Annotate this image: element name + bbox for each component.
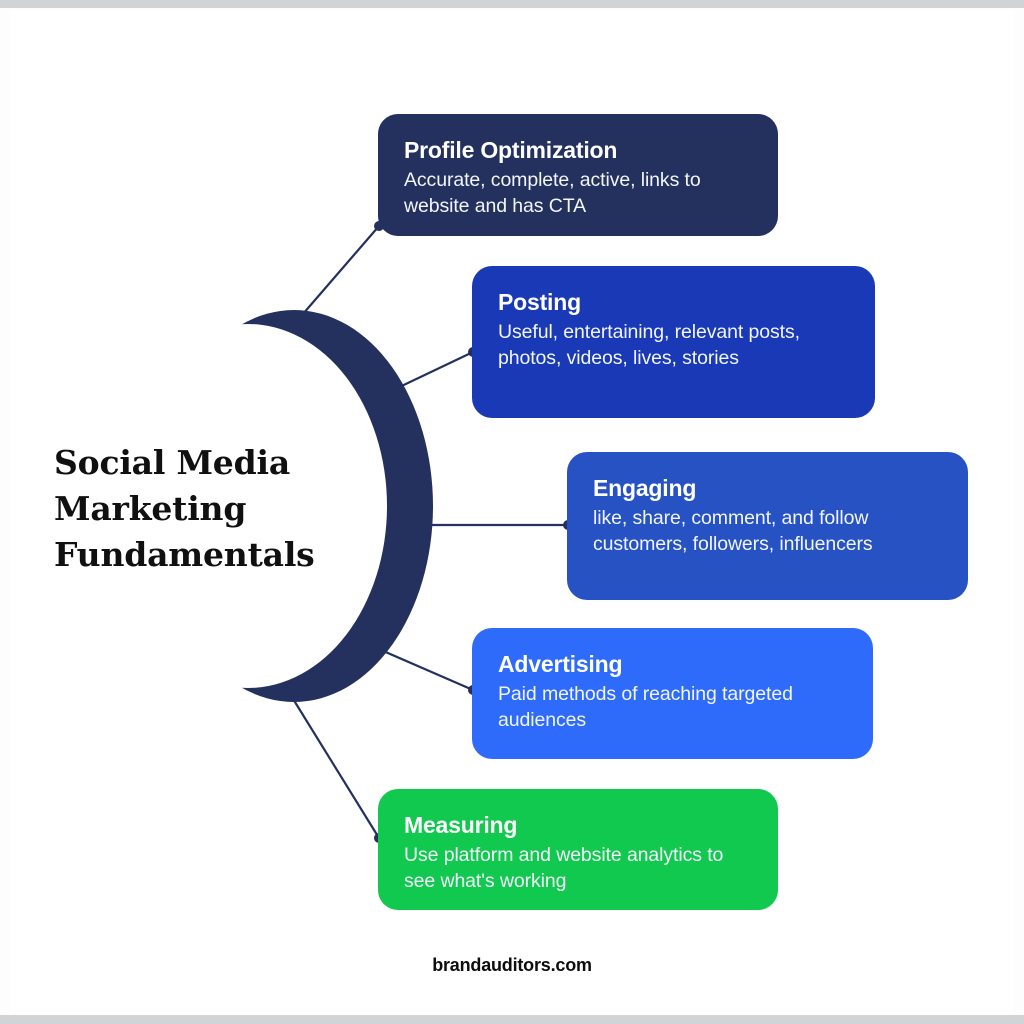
card-heading: Engaging [593,474,942,502]
card-body: Accurate, complete, active, links to web… [404,167,752,219]
title-line-1: Social Media [54,440,354,486]
card-profile-optimization[interactable]: Profile Optimization Accurate, complete,… [378,114,778,236]
card-body: Paid methods of reaching targeted audien… [498,681,847,733]
card-heading: Posting [498,288,849,316]
card-engaging[interactable]: Engaging like, share, comment, and follo… [567,452,968,600]
footer-website: brandauditors.com [0,955,1024,976]
title-line-3: Fundamentals [54,532,354,578]
card-measuring[interactable]: Measuring Use platform and website analy… [378,789,778,910]
title-line-2: Marketing [54,486,354,532]
card-posting[interactable]: Posting Useful, entertaining, relevant p… [472,266,875,418]
card-body: Use platform and website analytics to se… [404,842,752,894]
infographic-canvas: Social Media Marketing Fundamentals Prof… [0,0,1024,1024]
card-body: Useful, entertaining, relevant posts, ph… [498,319,849,371]
card-heading: Measuring [404,811,752,839]
card-body: like, share, comment, and follow custome… [593,505,942,557]
page-title: Social Media Marketing Fundamentals [54,440,354,578]
card-heading: Profile Optimization [404,136,752,164]
card-heading: Advertising [498,650,847,678]
card-advertising[interactable]: Advertising Paid methods of reaching tar… [472,628,873,759]
